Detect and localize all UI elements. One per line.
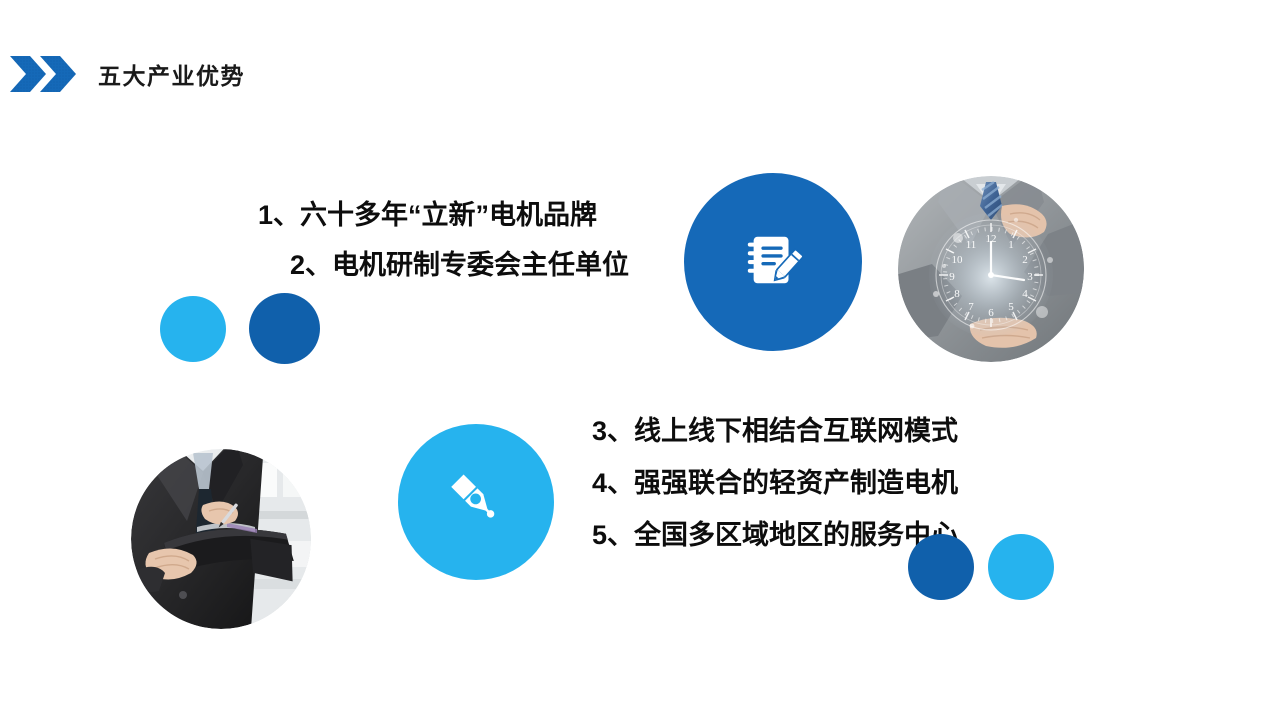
page-title: 五大产业优势 — [98, 65, 245, 88]
pen-nib-icon — [443, 467, 509, 538]
photo-person-writing-on-clipboard — [131, 449, 311, 629]
advantages-list-bottom: 3、线上线下相结合互联网模式 4、强强联合的轻资产制造电机 5、全国多区域地区的… — [592, 405, 958, 561]
svg-text:4: 4 — [1022, 288, 1028, 300]
svg-text:11: 11 — [966, 239, 977, 251]
svg-text:2: 2 — [1022, 254, 1028, 266]
decorative-dot-cyan-left — [160, 296, 226, 362]
svg-text:1: 1 — [1008, 239, 1014, 251]
svg-text:3: 3 — [1027, 271, 1033, 283]
list-item: 1、六十多年“立新”电机品牌 — [258, 190, 629, 240]
decorative-dot-blue-left — [249, 293, 320, 364]
svg-text:8: 8 — [954, 288, 960, 300]
decorative-dot-cyan-right — [988, 534, 1054, 600]
slide-canvas: 五大产业优势 1、六十多年“立新”电机品牌 2、电机研制专委会主任单位 3、线上… — [0, 0, 1280, 720]
pen-icon-circle — [398, 424, 554, 580]
svg-text:6: 6 — [988, 307, 994, 319]
double-chevron-right-icon — [8, 54, 76, 99]
notepad-pencil-icon — [742, 229, 804, 296]
svg-text:10: 10 — [952, 254, 964, 266]
list-item: 5、全国多区域地区的服务中心 — [592, 509, 958, 561]
notepad-icon-circle — [684, 173, 862, 351]
list-item: 2、电机研制专委会主任单位 — [258, 240, 629, 290]
slide-header: 五大产业优势 — [0, 48, 245, 104]
photo-businessman-holding-clock: 12 1 2 3 4 5 6 7 8 9 10 11 — [898, 176, 1084, 362]
svg-text:5: 5 — [1008, 301, 1014, 313]
decorative-dot-blue-right — [908, 534, 974, 600]
list-item: 4、强强联合的轻资产制造电机 — [592, 457, 958, 509]
svg-text:7: 7 — [968, 301, 974, 313]
list-item: 3、线上线下相结合互联网模式 — [592, 405, 958, 457]
advantages-list-top: 1、六十多年“立新”电机品牌 2、电机研制专委会主任单位 — [258, 190, 629, 290]
svg-text:9: 9 — [949, 271, 955, 283]
